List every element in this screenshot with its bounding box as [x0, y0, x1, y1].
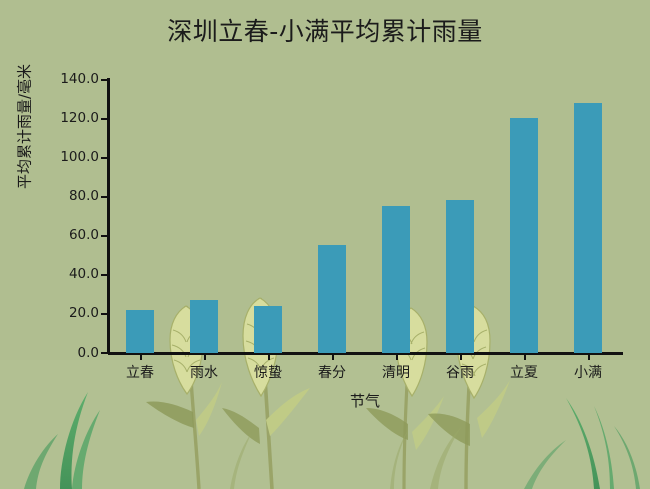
- bar-qingming[interactable]: [382, 206, 410, 353]
- x-tick-mark: [396, 353, 398, 360]
- bar-lichun[interactable]: [126, 310, 154, 353]
- y-tick-label: 0.0: [5, 345, 99, 361]
- plot-area: [108, 78, 622, 353]
- x-tick-mark: [588, 353, 590, 360]
- x-axis-title: 节气: [108, 390, 622, 411]
- bar-yushui[interactable]: [190, 300, 218, 353]
- grass-blade-decoration: [24, 392, 100, 489]
- chart-figure: 深圳立春-小满平均累计雨量 0.0 20.0 40.0 60.0 80.0 10…: [0, 0, 650, 489]
- y-tick-label: 20.0: [5, 305, 99, 321]
- x-tick-mark: [140, 353, 142, 360]
- x-tick-mark: [268, 353, 270, 360]
- chart-title: 深圳立春-小满平均累计雨量: [0, 12, 650, 48]
- x-tick-mark: [204, 353, 206, 360]
- bar-jingzhe[interactable]: [254, 306, 282, 353]
- x-tick-mark: [332, 353, 334, 360]
- x-tick-mark: [460, 353, 462, 360]
- x-tick-label-xiaoman: 小满: [548, 362, 628, 382]
- bar-guyu[interactable]: [446, 200, 474, 353]
- grass-blade-decoration: [230, 426, 462, 489]
- bar-lixia[interactable]: [510, 118, 538, 353]
- y-axis-title: 平均累计雨量/毫米: [14, 17, 35, 237]
- bar-xiaoman[interactable]: [574, 103, 602, 353]
- y-tick-label: 40.0: [5, 266, 99, 282]
- bar-chunfen[interactable]: [318, 245, 346, 353]
- x-tick-mark: [524, 353, 526, 360]
- grass-blade-decoration: [524, 398, 640, 489]
